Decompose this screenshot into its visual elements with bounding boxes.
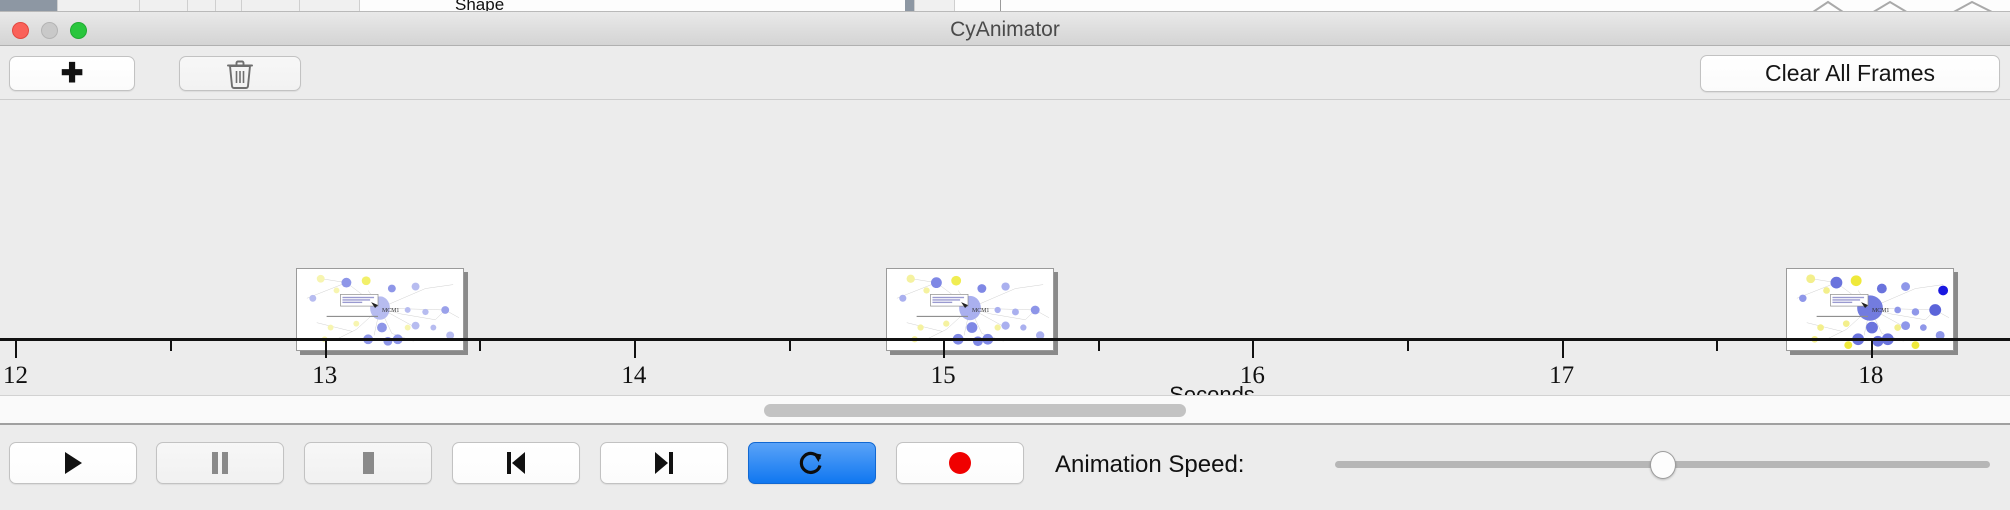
timeline-tick-label: 17 [1549,362,1574,390]
timeline-tick-minor [789,341,791,351]
record-icon [946,449,974,477]
timeline-tick-major [1871,341,1873,358]
timeline-scrollbar[interactable] [0,396,2010,425]
timeline-tick-label: 13 [312,362,337,390]
skip-back-icon [503,450,529,476]
timeline-tick-label: 12 [3,362,28,390]
play-icon [61,450,85,476]
stop-icon [357,450,379,476]
titlebar: CyAnimator [0,12,2010,46]
skip-forward-icon [651,450,677,476]
playback-controls: Animation Speed: [0,425,2010,503]
timeline-axis [0,338,2010,341]
svg-text:MCM1: MCM1 [972,308,989,314]
bg-chunk [905,0,915,12]
bg-app-text: Shape [455,0,504,12]
play-button[interactable] [9,442,137,484]
timeline-tick-minor [1716,341,1718,351]
delete-frame-button[interactable] [179,56,301,91]
bg-chunk [242,0,300,12]
timeline-panel[interactable]: MCM1 [0,100,2010,396]
loop-button[interactable] [748,442,876,484]
svg-text:MCM1: MCM1 [1872,308,1889,314]
timeline-tick-label: 14 [621,362,646,390]
clear-all-frames-button[interactable]: Clear All Frames [1700,55,2000,92]
plus-icon: ✚ [61,60,84,87]
bg-chunk [216,0,242,12]
background-app-strip: Shape [0,0,2010,12]
stop-button[interactable] [304,442,432,484]
skip-back-button[interactable] [452,442,580,484]
animation-speed-label: Animation Speed: [1055,451,1244,479]
timeline-tick-minor [1407,341,1409,351]
timeline-tick-major [1252,341,1254,358]
window-title: CyAnimator [0,18,2010,42]
add-frame-button[interactable]: ✚ [9,56,135,91]
timeline-tick-major [15,341,17,358]
scrollbar-thumb[interactable] [764,404,1186,417]
bg-chunk [58,0,140,12]
timeline-tick-major [1562,341,1564,358]
timeline-tick-minor [170,341,172,351]
timeline-tick-minor [479,341,481,351]
bg-chunk [140,0,188,12]
pause-icon [209,450,231,476]
timeline-tick-major [634,341,636,358]
loop-icon [798,449,826,477]
bg-chunk [915,0,955,12]
cyanimator-window: CyAnimator ✚ Clear All Frames [0,12,2010,510]
timeline-tick-minor [1098,341,1100,351]
timeline-tick-major [325,341,327,358]
trash-icon [227,59,253,89]
bg-chunk [0,0,58,12]
bg-chunk [188,0,216,12]
skip-forward-button[interactable] [600,442,728,484]
bg-curve-icon [1800,0,2010,12]
record-button[interactable] [896,442,1024,484]
pause-button[interactable] [156,442,284,484]
svg-text:MCM1: MCM1 [382,308,399,314]
bg-chunk [300,0,360,12]
timeline-tick-label: 15 [931,362,956,390]
animation-speed-slider-knob[interactable] [1650,451,1676,479]
bg-divider [1000,0,1001,12]
timeline-tick-label: 18 [1858,362,1883,390]
toolbar: ✚ Clear All Frames [0,46,2010,100]
timeline-tick-major [943,341,945,358]
axis-title: Seconds [1169,382,1255,396]
